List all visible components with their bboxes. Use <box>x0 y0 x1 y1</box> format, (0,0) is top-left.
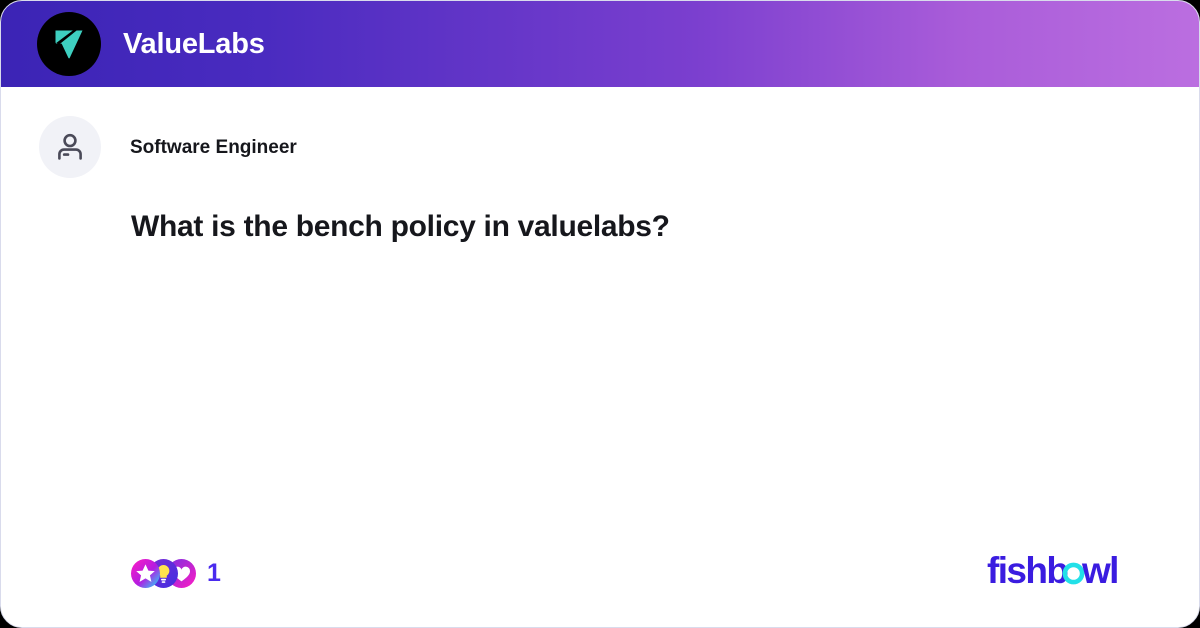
post-card: ValueLabs Software Engineer What is the … <box>0 0 1200 628</box>
reaction-badge-stack[interactable] <box>131 559 185 588</box>
user-avatar-icon <box>39 116 101 178</box>
post-footer: 1 fishb wl <box>1 553 1199 593</box>
fishbowl-wordmark-icon: fishb wl <box>987 553 1127 593</box>
company-header: ValueLabs <box>1 1 1199 87</box>
post-question: What is the bench policy in valuelabs? <box>131 207 1091 246</box>
star-reaction-icon[interactable] <box>131 559 160 588</box>
svg-text:fishb: fishb <box>987 553 1068 591</box>
valuelabs-v-logo-icon <box>37 12 101 76</box>
author-row: Software Engineer <box>39 116 297 178</box>
company-name: ValueLabs <box>123 30 265 59</box>
reaction-count: 1 <box>207 561 221 586</box>
post-body: Software Engineer What is the bench poli… <box>1 87 1199 628</box>
svg-text:wl: wl <box>1081 553 1118 591</box>
author-title: Software Engineer <box>130 138 297 157</box>
reactions-group[interactable]: 1 <box>131 559 221 588</box>
